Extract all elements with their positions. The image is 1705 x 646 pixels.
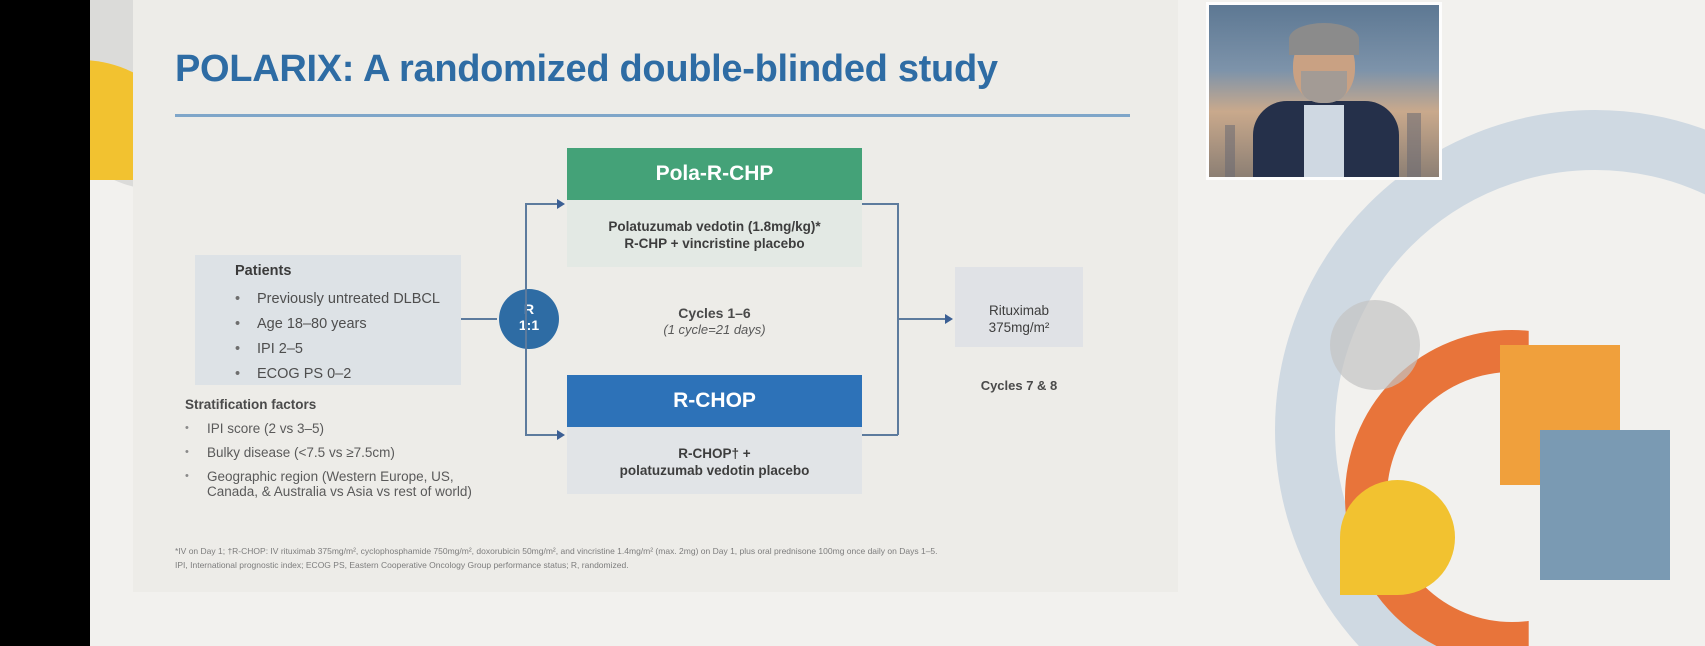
connector-merge-to-ritux	[897, 318, 947, 320]
stratification-heading: Stratification factors	[185, 397, 316, 412]
randomization-ratio: 1:1	[519, 317, 539, 333]
cycles-label: Cycles 1–6	[567, 305, 862, 321]
page-title: POLARIX: A randomized double-blinded stu…	[175, 48, 998, 91]
arrow-to-rituximab-icon	[945, 314, 953, 324]
stratification-item-2-line2: Canada, & Australia vs Asia vs rest of w…	[207, 484, 472, 499]
connector-r-stem	[525, 203, 527, 435]
stratification-item-0: •IPI score (2 vs 3–5)	[185, 421, 324, 436]
stratification-item-1: •Bulky disease (<7.5 vs ≥7.5cm)	[185, 445, 395, 460]
arm-pola-line1: Polatuzumab vedotin (1.8mg/kg)*	[567, 219, 862, 234]
presenter-hair	[1289, 23, 1359, 55]
footnote-0: *IV on Day 1; †R-CHOP: IV rituximab 375m…	[175, 546, 938, 556]
connector-r-to-pola	[525, 203, 559, 205]
patients-item-3: •ECOG PS 0–2	[235, 366, 351, 382]
patients-item-0: •Previously untreated DLBCL	[235, 291, 440, 307]
skyline-tower-left-icon	[1225, 125, 1235, 177]
footnote-1: IPI, International prognostic index; ECO…	[175, 560, 629, 570]
connector-chop-out	[862, 434, 898, 436]
skyline-tower-right-icon	[1407, 113, 1421, 177]
arrow-to-pola-icon	[557, 199, 565, 209]
connector-pola-out	[862, 203, 898, 205]
presenter-shirt	[1304, 105, 1344, 180]
arm-chop-title: R-CHOP	[567, 375, 862, 427]
arm-chop-line2: polatuzumab vedotin placebo	[567, 463, 862, 478]
patients-heading: Patients	[235, 263, 291, 279]
arm-pola-header: Pola-R-CHP	[567, 148, 862, 200]
title-underline	[175, 114, 1130, 117]
arrow-to-chop-icon	[557, 430, 565, 440]
presenter-beard	[1301, 71, 1347, 103]
connector-r-to-chop	[525, 434, 559, 436]
deco-gray-circle	[1330, 300, 1420, 390]
connector-patients-to-r	[461, 318, 497, 320]
rituximab-dose: 375mg/m²	[955, 320, 1083, 335]
arm-pola-line2: R-CHP + vincristine placebo	[567, 236, 862, 251]
arm-pola-title: Pola-R-CHP	[567, 148, 862, 200]
stratification-item-2: •Geographic region (Western Europe, US,	[185, 469, 454, 484]
randomization-node: R 1:1	[499, 289, 559, 349]
presenter-video-tile[interactable]	[1206, 2, 1442, 180]
screen: POLARIX: A randomized double-blinded stu…	[0, 0, 1705, 646]
presentation-slide: POLARIX: A randomized double-blinded stu…	[133, 0, 1178, 592]
rituximab-name: Rituximab	[955, 303, 1083, 318]
patients-item-1: •Age 18–80 years	[235, 316, 367, 332]
deco-yellow-circle	[1340, 480, 1455, 595]
rituximab-cycles: Cycles 7 & 8	[955, 378, 1083, 393]
cycles-sublabel: (1 cycle=21 days)	[567, 322, 862, 337]
arm-chop-line1: R-CHOP† +	[567, 446, 862, 461]
patients-item-2: •IPI 2–5	[235, 341, 303, 357]
arm-chop-header: R-CHOP	[567, 375, 862, 427]
deco-steel-block	[1540, 430, 1670, 580]
